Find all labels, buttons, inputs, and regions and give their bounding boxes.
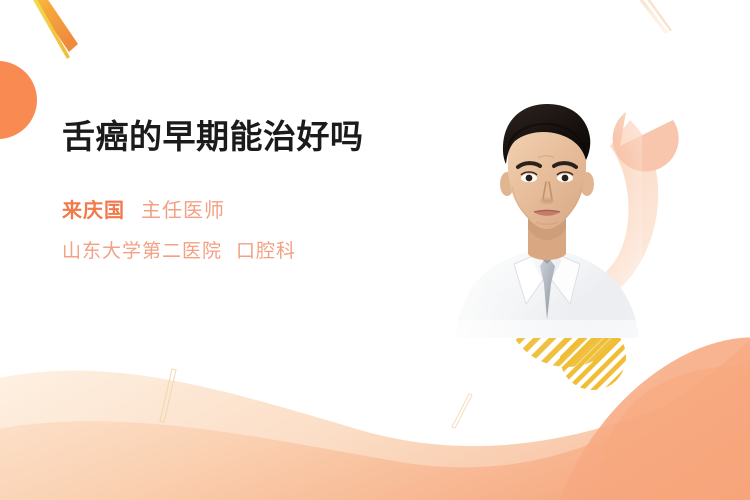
doctor-identity-row: 来庆国 主任医师	[62, 194, 432, 223]
doctor-professional-title: 主任医师	[141, 194, 225, 223]
doctor-video-cover-card: 舌癌的早期能治好吗 来庆国 主任医师 山东大学第二医院 口腔科	[0, 0, 750, 500]
doctor-affiliation-row: 山东大学第二医院 口腔科	[62, 236, 432, 263]
doctor-meta-block: 来庆国 主任医师 山东大学第二医院 口腔科	[62, 194, 432, 263]
text-content-block: 舌癌的早期能治好吗 来庆国 主任医师 山东大学第二医院 口腔科	[62, 116, 432, 263]
hospital-name: 山东大学第二医院	[62, 236, 222, 263]
doctor-portrait-illustration	[452, 88, 642, 338]
page-title: 舌癌的早期能治好吗	[62, 116, 432, 158]
department-name: 口腔科	[236, 236, 296, 263]
doctor-portrait	[452, 88, 642, 338]
doctor-name: 来庆国	[62, 194, 125, 223]
